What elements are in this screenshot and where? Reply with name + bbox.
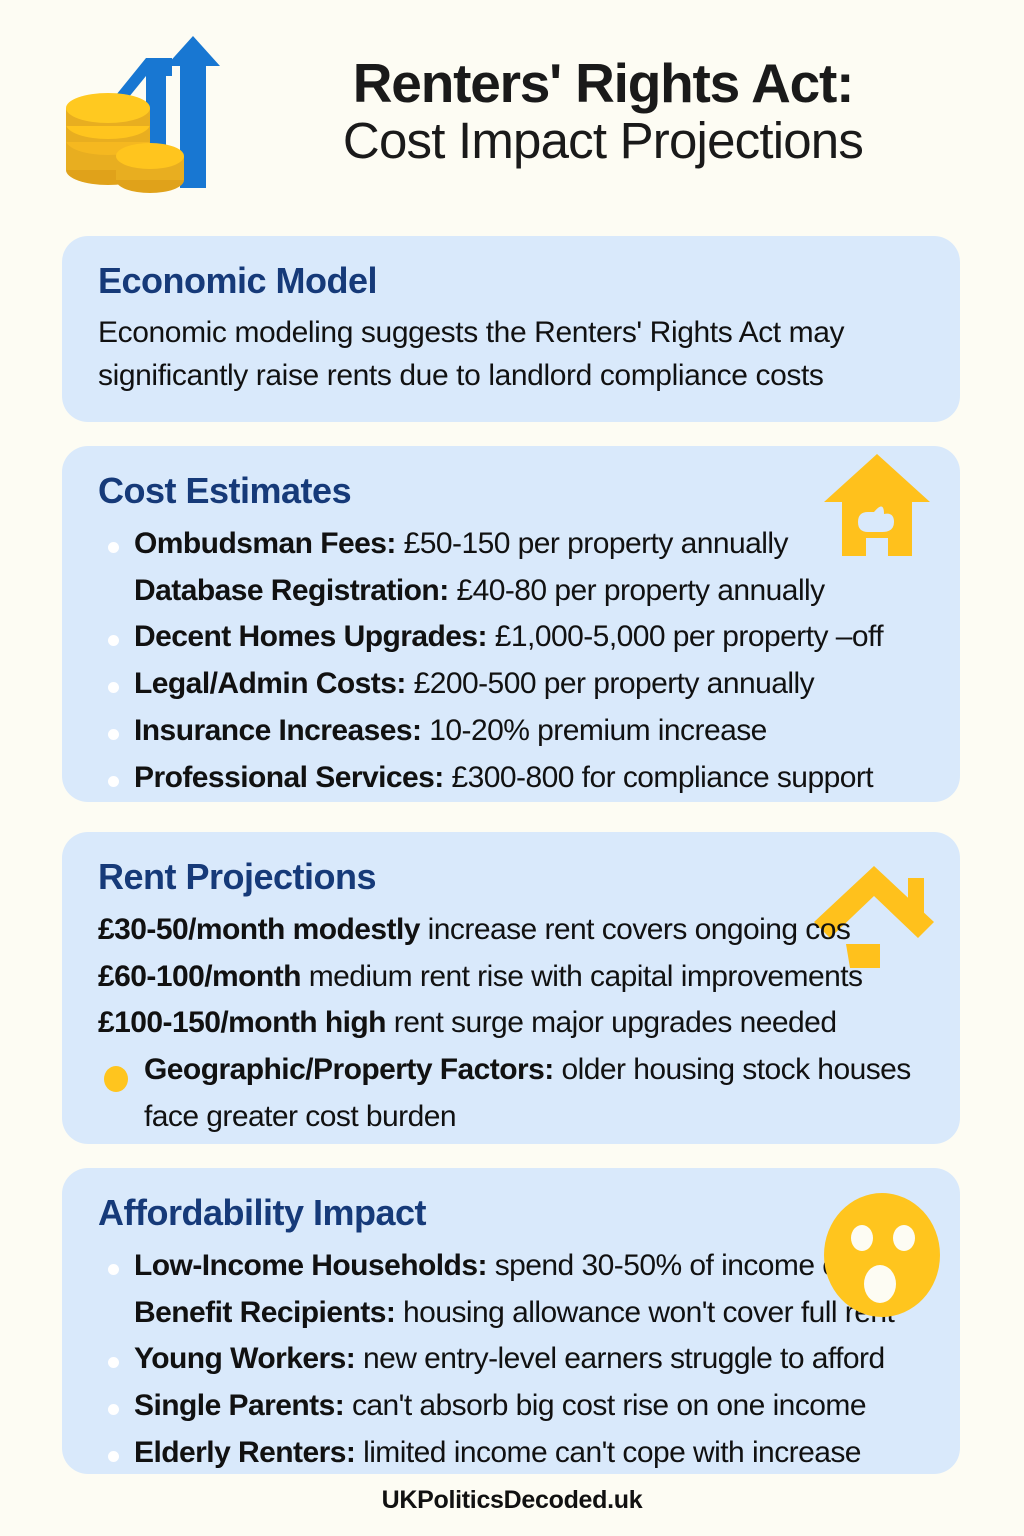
bullet-dot	[108, 1404, 119, 1415]
bullet-dot	[108, 1451, 119, 1462]
item-label: Decent Homes Upgrades:	[134, 620, 487, 653]
footer-source: UKPoliticsDecoded.uk	[0, 1486, 1024, 1515]
bullet-dot	[108, 729, 119, 740]
card-title: Cost Estimates	[98, 468, 924, 515]
list-item: Decent Homes Upgrades: £1,000-5,000 per …	[98, 614, 924, 661]
item-text: £300-800 for compliance support	[444, 761, 873, 794]
list-item: Single Parents: can't absorb big cost ri…	[98, 1383, 924, 1430]
item-text: £40-80 per property annually	[449, 574, 825, 607]
cost-estimates-list: Ombudsman Fees: £50-150 per property ann…	[98, 521, 924, 802]
card-title: Economic Model	[98, 258, 924, 305]
bullet-dot	[104, 1066, 128, 1092]
line-label: £60-100/month	[98, 960, 301, 993]
item-text: limited income can't cope with increase	[355, 1436, 861, 1469]
affordability-list: Low-Income Households: spend 30-50% of i…	[98, 1243, 924, 1474]
item-text: new entry-level earners struggle to affo…	[355, 1342, 884, 1375]
item-text: £1,000-5,000 per property –off	[487, 620, 883, 653]
item-text: spend 30-50% of income on rent	[487, 1249, 912, 1282]
item-label: Ombudsman Fees:	[134, 527, 396, 560]
bullet-dot	[108, 1357, 119, 1368]
item-label: Legal/Admin Costs:	[134, 667, 406, 700]
rent-factors-list: Geographic/Property Factors: older housi…	[98, 1047, 924, 1141]
card-rent-projections: Rent Projections £30-50/month modestly i…	[62, 832, 960, 1144]
bullet-dot	[108, 542, 119, 553]
card-cost-estimates: Cost Estimates Ombudsman Fees: £50-150 p…	[62, 446, 960, 802]
item-label: Database Registration:	[134, 574, 449, 607]
card-paragraph: Economic modeling suggests the Renters' …	[98, 311, 924, 397]
title-line-1: Renters' Rights Act:	[222, 55, 984, 111]
line-label: £30-50/month modestly	[98, 913, 420, 946]
item-label: Benefit Recipients:	[134, 1296, 395, 1329]
list-item: Low-Income Households: spend 30-50% of i…	[98, 1243, 924, 1290]
rent-projection-line: £30-50/month modestly increase rent cove…	[98, 907, 924, 954]
item-label: Low-Income Households:	[134, 1249, 487, 1282]
line-text: medium rent rise with capital improvemen…	[301, 960, 863, 993]
item-label: Elderly Renters:	[134, 1436, 355, 1469]
list-item: Geographic/Property Factors: older housi…	[98, 1047, 924, 1141]
item-label: Young Workers:	[134, 1342, 355, 1375]
line-text: increase rent covers ongoing cos	[420, 913, 850, 946]
title-line-2: Cost Impact Projections	[222, 111, 984, 171]
item-label: Insurance Increases:	[134, 714, 422, 747]
item-label: Professional Services:	[134, 761, 444, 794]
rent-projection-line: £100-150/month high rent surge major upg…	[98, 1000, 924, 1047]
line-label: £100-150/month high	[98, 1006, 386, 1039]
header: Renters' Rights Act: Cost Impact Project…	[0, 0, 1024, 226]
list-item: Ombudsman Fees: £50-150 per property ann…	[98, 521, 924, 568]
item-label: Single Parents:	[134, 1389, 344, 1422]
list-item: Professional Services: £300-800 for comp…	[98, 755, 924, 802]
coins-growth-chart-icon	[62, 28, 222, 198]
item-text: 10-20% premium increase	[422, 714, 767, 747]
rent-projection-line: £60-100/month medium rent rise with capi…	[98, 954, 924, 1001]
item-text: housing allowance won't cover full rent	[395, 1296, 894, 1329]
list-item: Insurance Increases: 10-20% premium incr…	[98, 708, 924, 755]
item-text: £50-150 per property annually	[396, 527, 788, 560]
page-title: Renters' Rights Act: Cost Impact Project…	[222, 55, 1024, 171]
list-item: Database Registration: £40-80 per proper…	[98, 568, 924, 615]
bullet-dot	[108, 682, 119, 693]
card-title: Rent Projections	[98, 854, 924, 901]
card-affordability-impact: Affordability Impact Low-Income Househol…	[62, 1168, 960, 1474]
item-text: can't absorb big cost rise on one income	[344, 1389, 866, 1422]
item-label: Geographic/Property Factors:	[144, 1053, 554, 1086]
line-text: rent surge major upgrades needed	[386, 1006, 836, 1039]
card-title: Affordability Impact	[98, 1190, 924, 1237]
list-item: Young Workers: new entry-level earners s…	[98, 1336, 924, 1383]
bullet-dot	[108, 635, 119, 646]
list-item: Benefit Recipients: housing allowance wo…	[98, 1290, 924, 1337]
list-item: Elderly Renters: limited income can't co…	[98, 1430, 924, 1474]
item-text: £200-500 per property annually	[406, 667, 814, 700]
bullet-dot	[108, 776, 119, 787]
list-item: Legal/Admin Costs: £200-500 per property…	[98, 661, 924, 708]
bullet-dot	[108, 1264, 119, 1275]
card-economic-model: Economic Model Economic modeling suggest…	[62, 236, 960, 422]
